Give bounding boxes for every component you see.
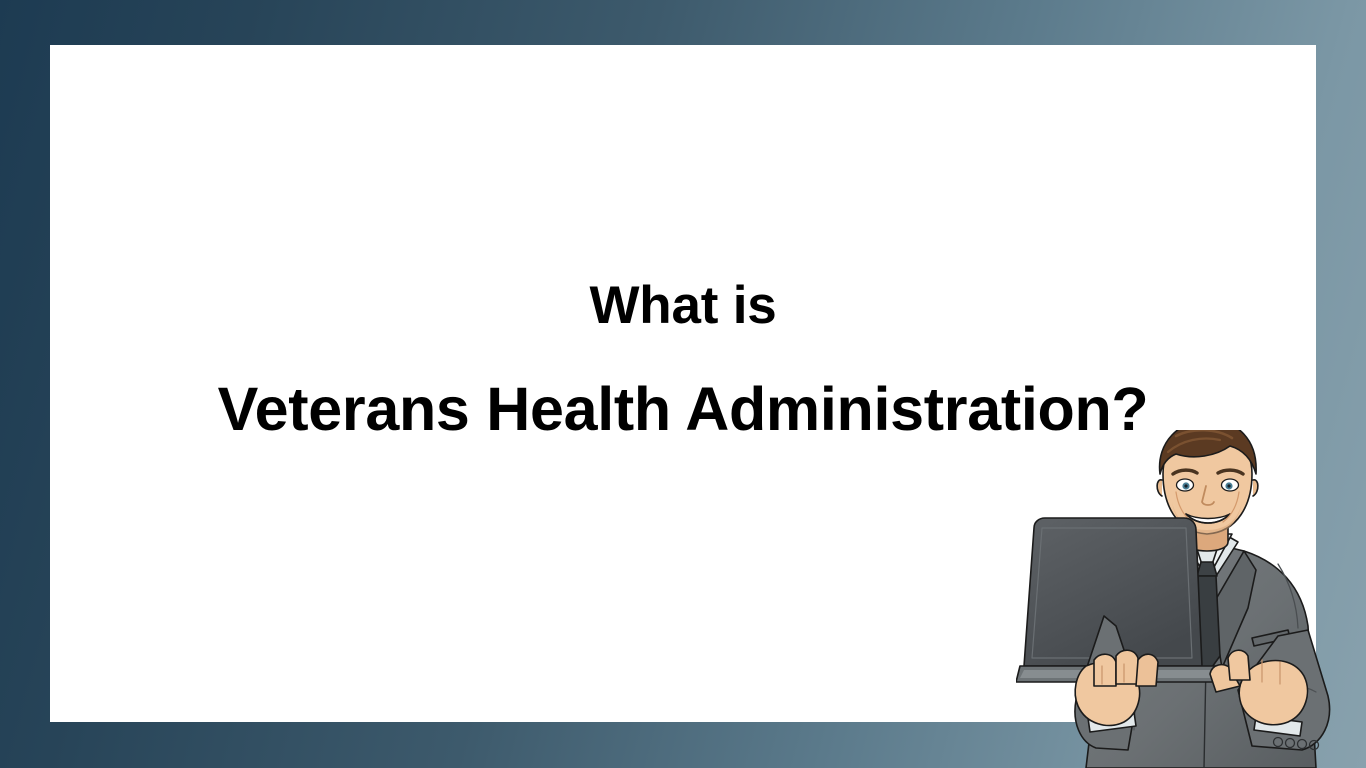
presentation-slide: What is Veterans Health Administration?	[0, 0, 1366, 768]
businessman-with-laptop-illustration	[1016, 430, 1366, 768]
